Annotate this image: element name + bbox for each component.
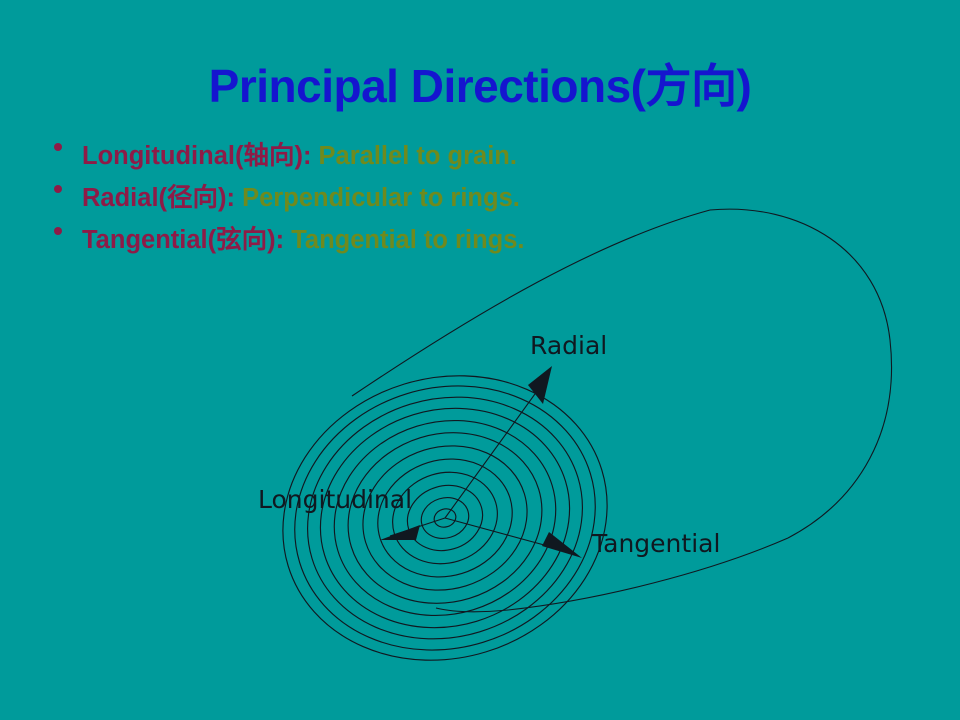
bullet-term: Longitudinal(轴向):	[82, 142, 311, 170]
wood-cylinder-diagram: Radial Longitudinal Tangential	[240, 180, 960, 700]
bullet-dot-icon	[54, 227, 62, 235]
tangential-label: Tangential	[591, 529, 720, 558]
longitudinal-arrow-head	[380, 525, 420, 540]
bullet-description: Parallel to grain.	[319, 142, 517, 170]
list-item: Longitudinal(轴向): Parallel to grain.	[40, 140, 530, 172]
slide-canvas: Principal Directions(方向) Longitudinal(轴向…	[0, 0, 960, 720]
bullet-dot-icon	[54, 143, 62, 151]
cylinder-far-end-cap	[710, 209, 892, 538]
longitudinal-arrow	[380, 518, 445, 540]
page-title: Principal Directions(方向)	[0, 62, 960, 110]
radial-arrow	[445, 366, 552, 518]
cylinder-top-edge	[352, 210, 710, 396]
bullet-term: Radial(径向):	[82, 184, 235, 212]
radial-label: Radial	[530, 331, 607, 360]
longitudinal-label: Longitudinal	[258, 485, 412, 514]
bullet-dot-icon	[54, 185, 62, 193]
